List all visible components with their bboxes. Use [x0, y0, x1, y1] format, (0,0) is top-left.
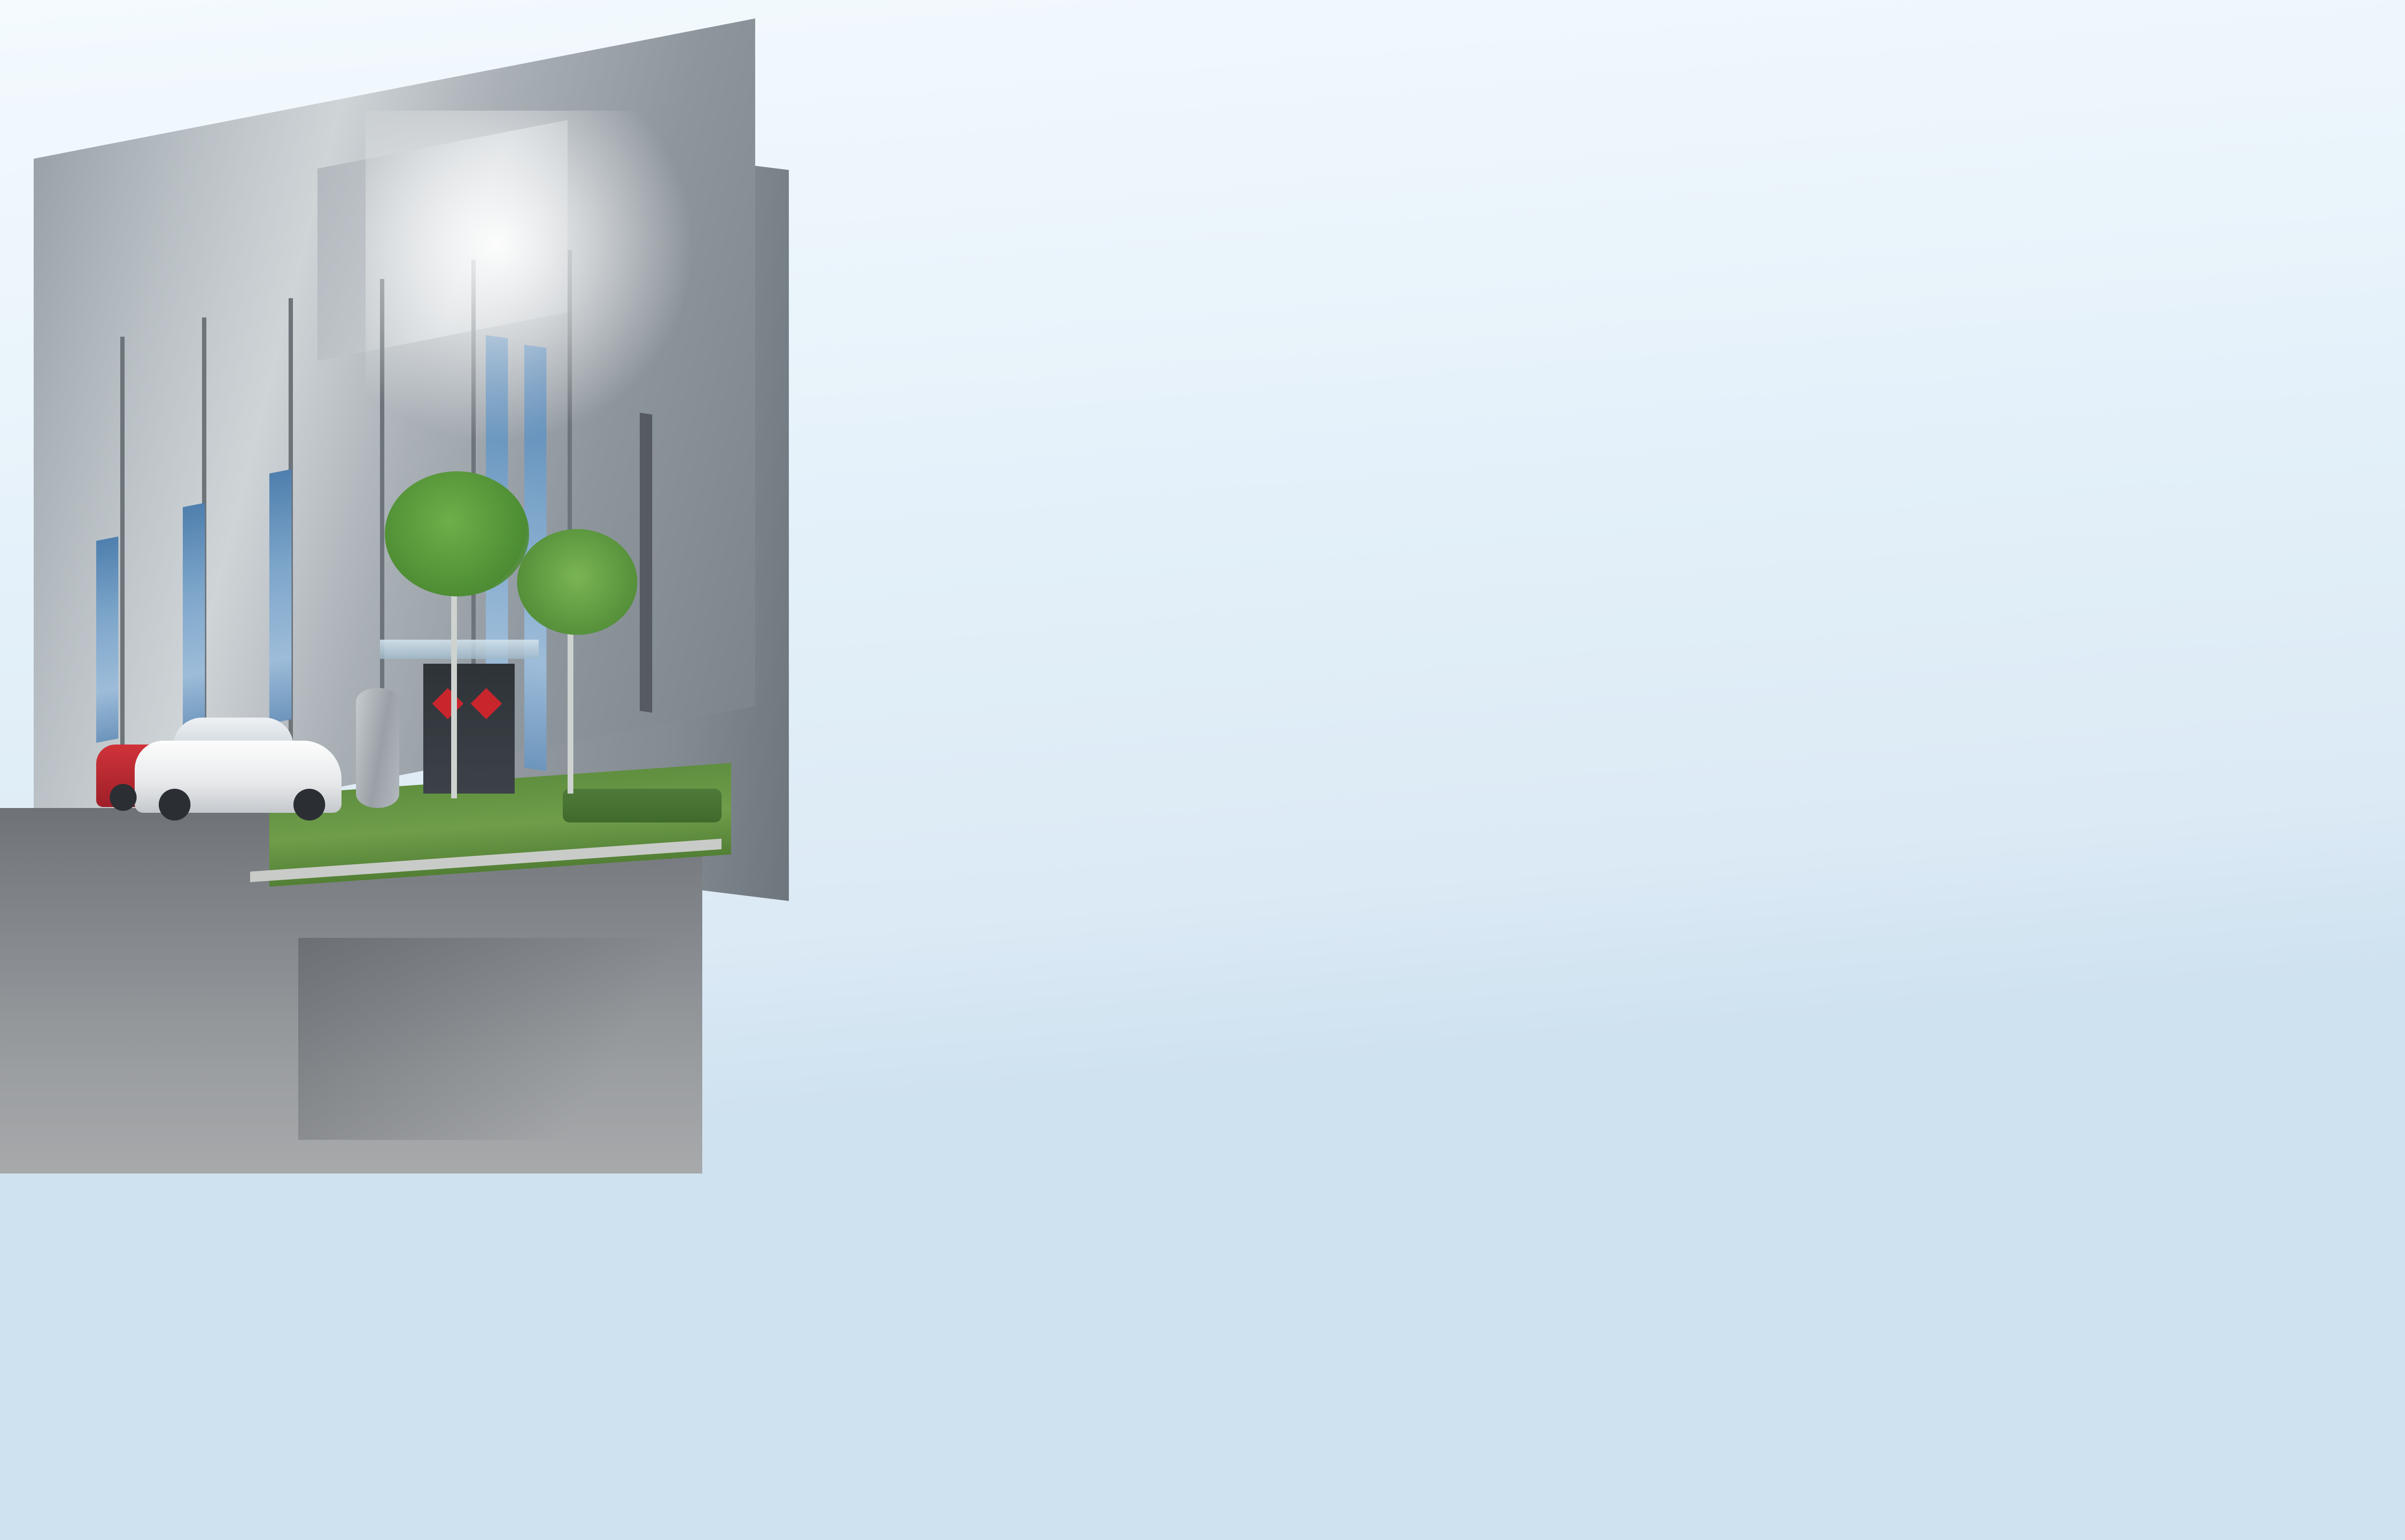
- photo-road-shadow: [298, 938, 693, 1140]
- photo-metal-pillar: [356, 688, 399, 808]
- photo-tree-canopy: [385, 471, 529, 596]
- photo-car-wheel: [110, 784, 137, 811]
- photo-hedge: [563, 789, 693, 822]
- building-photo: [0, 0, 693, 1164]
- photo-window-strip: [269, 469, 291, 724]
- photo-tree-trunk: [451, 572, 457, 798]
- photo-entrance-canopy: [380, 640, 539, 659]
- photo-tree-canopy: [517, 529, 637, 635]
- photo-car-wheel: [293, 789, 325, 820]
- poster-page: 万海细胞基地: [0, 0, 2405, 1540]
- photo-sun-flare: [366, 111, 693, 447]
- photo-window-strip: [96, 537, 118, 743]
- photo-car-wheel: [159, 789, 190, 820]
- photo-window-strip: [640, 413, 652, 713]
- photo-window-strip: [183, 503, 205, 733]
- photo-entrance-door: [423, 664, 515, 794]
